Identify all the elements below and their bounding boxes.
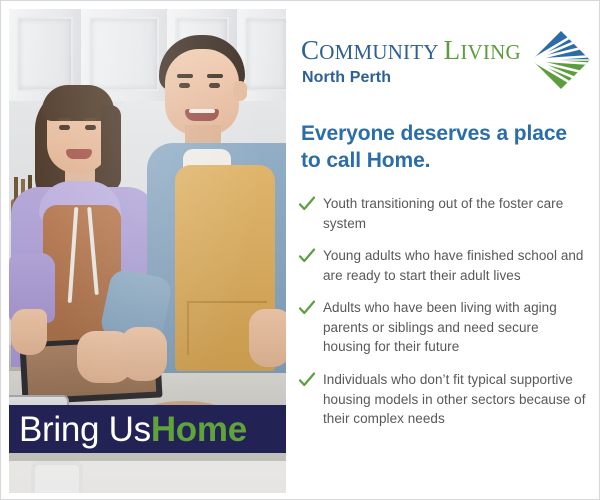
logo-word-living: LIVING (444, 35, 521, 65)
logo[interactable]: COMMUNITYLIVING North Perth (301, 29, 581, 97)
benefits-list: Youth transitioning out of the foster ca… (298, 194, 588, 442)
content-panel: COMMUNITYLIVING North Perth (290, 9, 593, 493)
person-left-eyebrow (84, 118, 97, 121)
person-left-mouth (66, 149, 92, 159)
logo-wordmark: COMMUNITYLIVING (301, 37, 521, 64)
banner-text: Bring UsHome (9, 412, 247, 447)
list-item-label: Individuals who don’t fit typical suppor… (323, 370, 588, 429)
hand (249, 309, 286, 367)
person-right-ear (233, 81, 247, 101)
person-left-eyebrow (58, 118, 71, 121)
hand (121, 327, 167, 381)
person-right-eyebrow (177, 74, 193, 78)
person-right-eye (209, 83, 220, 88)
bring-us-home-banner: Bring UsHome (9, 405, 286, 453)
list-item-label: Adults who have been living with aging p… (323, 298, 588, 357)
hand (11, 309, 47, 355)
poster: Bring UsHome COMMUNITYLIVING North Perth (0, 0, 600, 500)
person-left-eye (85, 125, 96, 130)
check-icon (298, 247, 316, 265)
list-item: Adults who have been living with aging p… (298, 298, 588, 357)
banner-text-white: Bring Us (19, 410, 151, 449)
page-title: Everyone deserves a place to call Home. (301, 121, 571, 174)
person-left-eye (59, 125, 70, 130)
list-item: Young adults who have finished school an… (298, 246, 588, 285)
check-icon (298, 195, 316, 213)
check-icon (298, 299, 316, 317)
person-right-face (165, 49, 239, 135)
person-right-mouth (185, 109, 219, 121)
person-right-eyebrow (207, 74, 223, 78)
logo-subtitle: North Perth (302, 69, 391, 87)
list-item-label: Young adults who have finished school an… (323, 246, 588, 285)
diamond-rays-logo-icon (530, 29, 592, 91)
cookie-cutter (31, 461, 83, 493)
person-left-hair-side (101, 105, 121, 191)
list-item: Individuals who don’t fit typical suppor… (298, 370, 588, 429)
list-item: Youth transitioning out of the foster ca… (298, 194, 588, 233)
banner-text-green: Home (151, 410, 247, 449)
check-icon (298, 371, 316, 389)
list-item-label: Youth transitioning out of the foster ca… (323, 194, 588, 233)
logo-word-community: COMMUNITY (301, 35, 439, 65)
person-right-eye (179, 83, 190, 88)
